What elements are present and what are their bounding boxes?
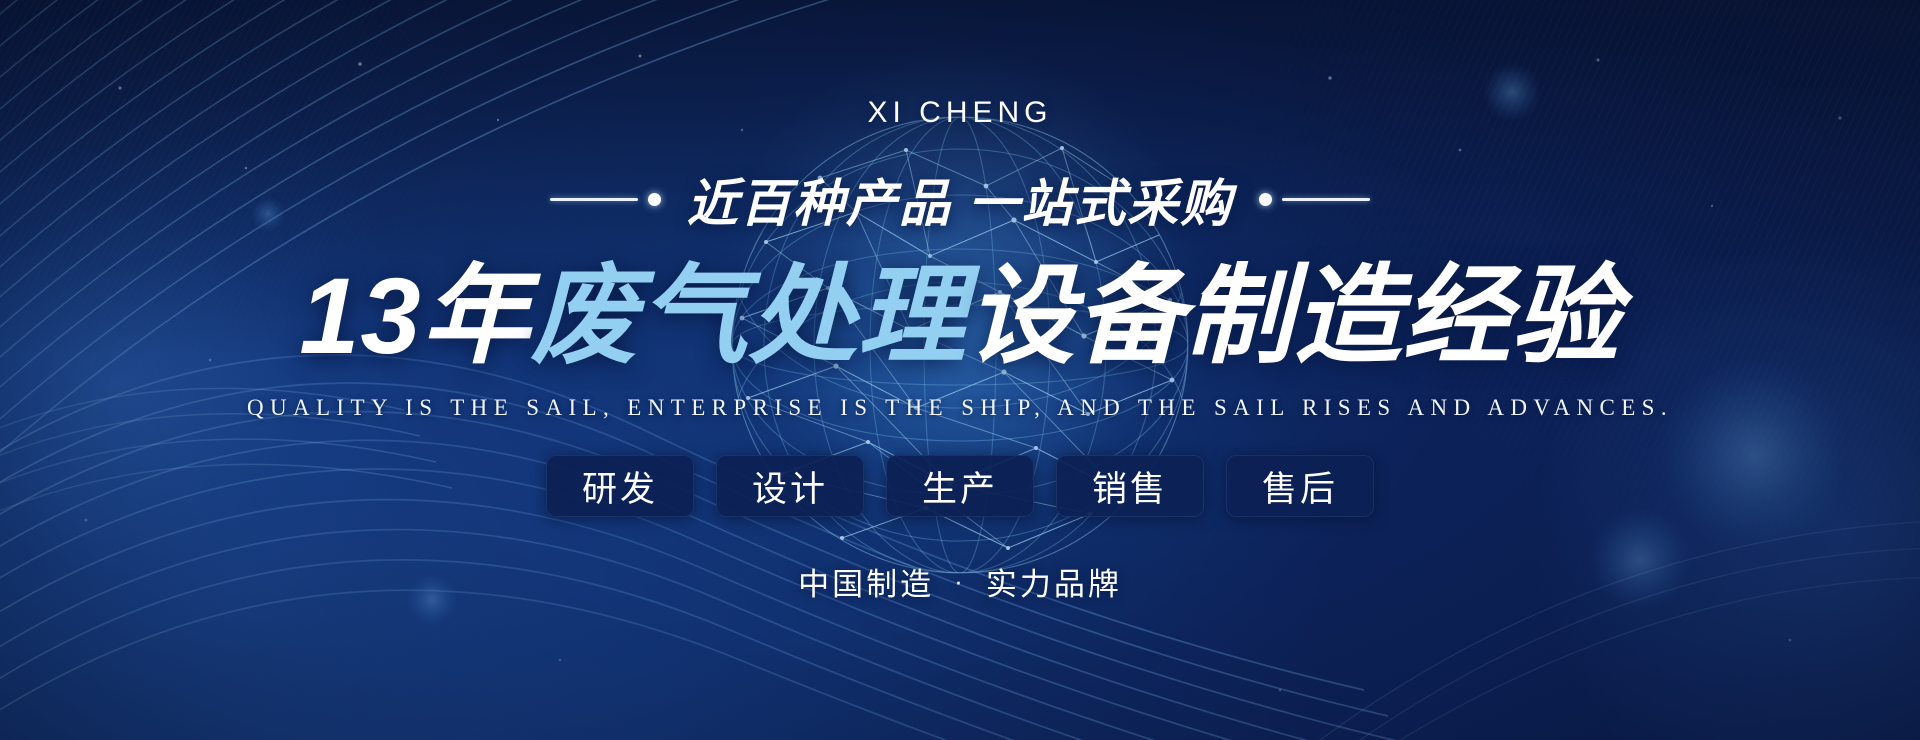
badge-aftersales[interactable]: 售后 <box>1226 455 1374 517</box>
badge-design[interactable]: 设计 <box>716 455 864 517</box>
ornament-line <box>550 198 638 201</box>
banner-footnote: 中国制造 · 实力品牌 <box>798 559 1122 604</box>
subtitle-row: 近百种产品 一站式采购 <box>550 162 1370 236</box>
badge-production[interactable]: 生产 <box>886 455 1034 517</box>
ornament-dot <box>648 193 661 206</box>
headline-rest: 设备制造经验 <box>967 255 1621 376</box>
ornament-line <box>1282 198 1370 201</box>
badge-sales[interactable]: 销售 <box>1056 455 1204 517</box>
footnote-right: 实力品牌 <box>986 559 1122 604</box>
footnote-left: 中国制造 <box>798 559 934 604</box>
brand-english-name: XI CHENG <box>867 96 1052 130</box>
hero-banner: XI CHENG 近百种产品 一站式采购 13年废气处理设备制造经验 QUALI… <box>0 0 1920 740</box>
page-title: 13年废气处理设备制造经验 <box>299 252 1620 379</box>
footnote-separator: · <box>954 566 966 597</box>
ornament-dot <box>1259 193 1272 206</box>
headline-years: 13年 <box>299 255 530 376</box>
badge-rd[interactable]: 研发 <box>546 455 694 517</box>
line-dot-ornament-left <box>550 193 661 206</box>
headline-accent: 废气处理 <box>531 255 967 376</box>
banner-subtitle: 近百种产品 一站式采购 <box>687 162 1233 236</box>
english-tagline: QUALITY IS THE SAIL, ENTERPRISE IS THE S… <box>247 395 1673 421</box>
banner-content: XI CHENG 近百种产品 一站式采购 13年废气处理设备制造经验 QUALI… <box>0 0 1920 740</box>
dot-line-ornament-right <box>1259 193 1370 206</box>
service-badge-list: 研发 设计 生产 销售 售后 <box>546 455 1374 517</box>
